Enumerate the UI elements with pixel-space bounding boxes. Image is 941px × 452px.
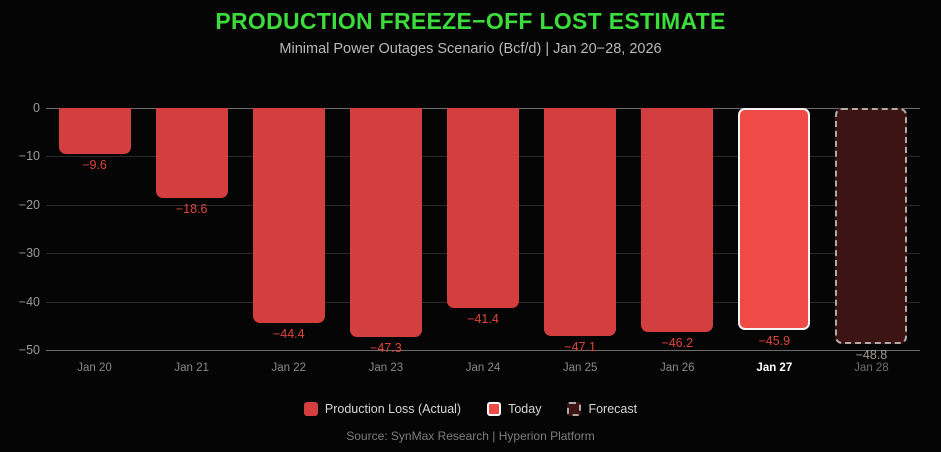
bar-actual[interactable]: [59, 108, 131, 154]
legend-swatch-icon: [304, 402, 318, 416]
bar-value-label: −48.8: [856, 348, 888, 362]
y-axis-tick-label: −50: [0, 343, 40, 357]
x-axis-tick-label: Jan 22: [272, 362, 307, 374]
legend-label: Today: [508, 402, 541, 416]
bar-value-label: −45.9: [759, 334, 791, 348]
chart-legend: Production Loss (Actual)TodayForecast: [0, 402, 941, 416]
bar-actual[interactable]: [350, 108, 422, 337]
bar-forecast[interactable]: [835, 108, 907, 344]
x-axis-tick-label: Jan 27: [756, 362, 792, 374]
x-axis-tick-label: Jan 20: [77, 362, 112, 374]
bar-today[interactable]: [738, 108, 810, 330]
x-axis-tick-label: Jan 23: [369, 362, 404, 374]
gridline: [46, 350, 920, 351]
bar-value-label: −18.6: [176, 202, 208, 216]
legend-item-forecast[interactable]: Forecast: [567, 402, 637, 416]
legend-swatch-icon: [567, 402, 581, 416]
legend-swatch-icon: [487, 402, 501, 416]
y-axis-tick-label: −40: [0, 295, 40, 309]
bar-value-label: −47.3: [370, 341, 402, 355]
bar-actual[interactable]: [156, 108, 228, 198]
y-axis-tick-label: −20: [0, 198, 40, 212]
legend-item-actual[interactable]: Production Loss (Actual): [304, 402, 461, 416]
bar-actual[interactable]: [447, 108, 519, 308]
y-axis-tick-label: 0: [0, 101, 40, 115]
bar-value-label: −44.4: [273, 327, 305, 341]
bar-value-label: −9.6: [82, 158, 107, 172]
bar-value-label: −46.2: [661, 336, 693, 350]
bar-value-label: −41.4: [467, 312, 499, 326]
plot-area: 0−10−20−30−40−50 −9.6−18.6−44.4−47.3−41.…: [0, 0, 941, 452]
chart-root: PRODUCTION FREEZE−OFF LOST ESTIMATE Mini…: [0, 0, 941, 452]
source-note: Source: SynMax Research | Hyperion Platf…: [0, 429, 941, 443]
x-axis-tick-label: Jan 28: [854, 362, 889, 374]
x-axis-tick-label: Jan 21: [174, 362, 209, 374]
bar-value-label: −47.1: [564, 340, 596, 354]
bar-actual[interactable]: [544, 108, 616, 336]
legend-label: Forecast: [588, 402, 637, 416]
legend-label: Production Loss (Actual): [325, 402, 461, 416]
x-axis-tick-label: Jan 24: [466, 362, 501, 374]
y-axis-tick-label: −30: [0, 246, 40, 260]
bar-actual[interactable]: [641, 108, 713, 332]
x-axis-tick-label: Jan 26: [660, 362, 695, 374]
bar-actual[interactable]: [253, 108, 325, 323]
x-axis-tick-label: Jan 25: [563, 362, 598, 374]
legend-item-today[interactable]: Today: [487, 402, 541, 416]
y-axis-tick-label: −10: [0, 149, 40, 163]
